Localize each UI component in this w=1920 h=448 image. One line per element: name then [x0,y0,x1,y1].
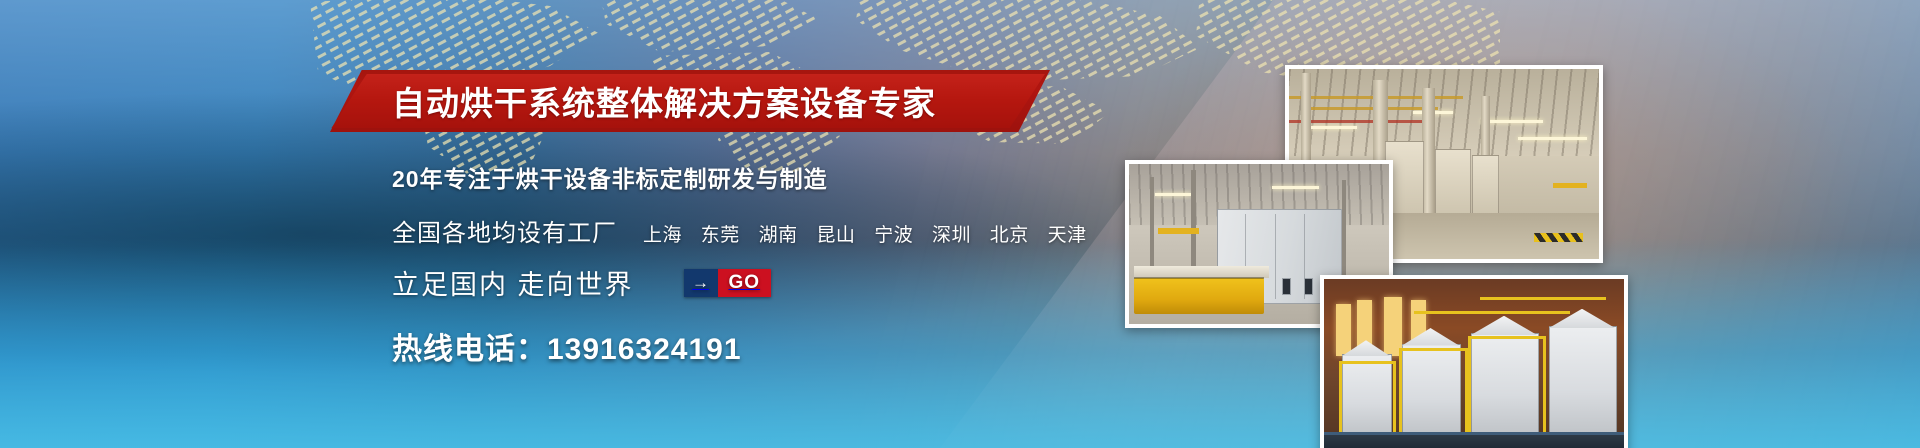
hall-light-strip [1308,126,1358,129]
workshop-column [1342,180,1346,279]
window-pane [1336,304,1351,357]
factories-label: 全国各地均设有工厂 [392,213,617,248]
hall-pipe [1301,107,1437,110]
city-list: 上海 东莞 湖南 昆山 宁波 深圳 北京 天津 [643,220,1087,247]
banner-claim: 20年专注于烘干设备非标定制研发与制造 [392,160,1087,194]
yellow-safety-frame [1468,336,1546,437]
workshop-light-strip [1272,186,1319,189]
yellow-catwalk-rail [1414,311,1570,314]
city-item: 北京 [990,225,1029,246]
hazard-stripe [1534,233,1584,242]
promo-banner: 自动烘干系统整体解决方案设备专家 20年专注于烘干设备非标定制研发与制造 全国各… [0,0,1920,448]
transfer-cart [1134,278,1264,315]
factories-line: 全国各地均设有工厂 上海 东莞 湖南 昆山 宁波 深圳 北京 天津 [392,213,1087,248]
photo-production-line-drying-units [1320,275,1628,448]
overhead-crane [1553,183,1587,188]
banner-headline: 自动烘干系统整体解决方案设备专家 [330,70,1050,132]
hall-light-strip [1481,120,1543,123]
yellow-safety-frame [1399,348,1468,436]
yellow-safety-frame [1339,361,1396,437]
ribbon-banner: 自动烘干系统整体解决方案设备专家 [330,70,1050,132]
go-button[interactable]: → GO [684,269,772,297]
conveyor-track [1324,435,1624,448]
city-item: 湖南 [759,225,798,246]
hotline-text: 热线电话：13916324191 [392,324,1087,368]
yellow-catwalk-rail [1480,297,1606,300]
city-item: 东莞 [701,225,740,246]
city-item: 深圳 [932,225,971,246]
hall-light-strip [1518,137,1586,140]
transfer-cart-deck [1134,266,1269,277]
workshop-light-strip [1155,193,1191,196]
transfer-cart-rail [1134,277,1264,279]
window-pane [1384,297,1402,357]
drying-unit [1549,326,1617,437]
hall-column [1301,73,1310,164]
arrow-right-icon: → [684,269,718,297]
city-item: 上海 [643,225,682,246]
banner-text-block: 20年专注于烘干设备非标定制研发与制造 全国各地均设有工厂 上海 东莞 湖南 昆… [392,160,1087,368]
city-item: 昆山 [816,225,855,246]
go-button-label: GO [718,269,772,297]
slogan-line: 立足国内 走向世界 → GO [392,263,1087,302]
city-item: 宁波 [874,225,913,246]
overhead-crane [1158,228,1200,234]
slogan-text: 立足国内 走向世界 [392,263,634,302]
city-item: 天津 [1048,225,1087,246]
